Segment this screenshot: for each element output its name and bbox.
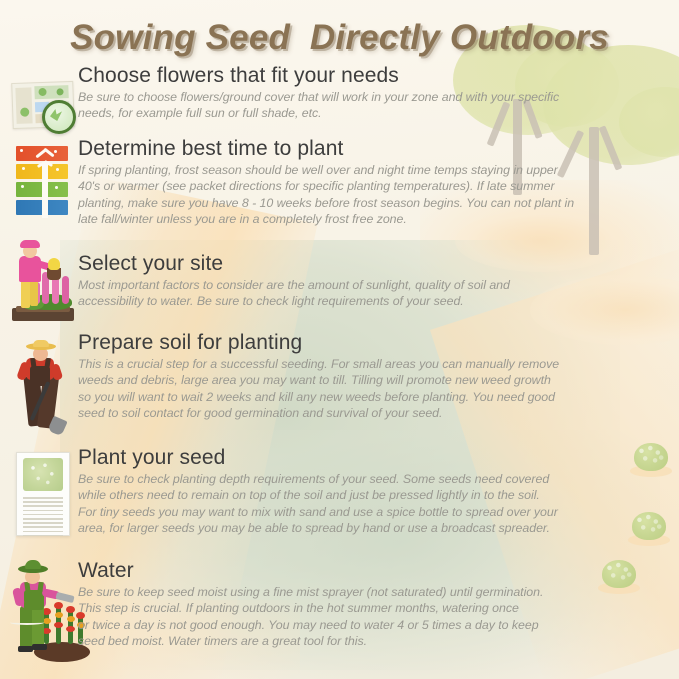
step-6-line-1: Be sure to keep seed moist using a fine … bbox=[78, 584, 672, 600]
step-2-line-4: late fall/winter unless you are in a com… bbox=[78, 211, 672, 227]
step-6: Water Be sure to keep seed moist using a… bbox=[78, 559, 672, 650]
step-5-line-3: For tiny seeds you may want to mix with … bbox=[78, 504, 672, 520]
step-5-line-4: area, for larger seeds you may be able t… bbox=[78, 520, 672, 536]
step-4-line-1: This is a crucial step for a successful … bbox=[78, 356, 672, 372]
step-5-heading: Plant your seed bbox=[78, 446, 672, 470]
step-4-body: This is a crucial step for a successful … bbox=[78, 356, 672, 422]
step-1-line-1: Be sure to choose flowers/ground cover t… bbox=[78, 89, 672, 105]
infographic-poster: Sowing Seed Directly Outdoors bbox=[0, 0, 679, 679]
step-6-body: Be sure to keep seed moist using a fine … bbox=[78, 584, 672, 650]
step-3-heading: Select your site bbox=[78, 252, 672, 276]
step-2-line-2: 40's or warmer (see packet directions fo… bbox=[78, 178, 672, 194]
step-5: Plant your seed Be sure to check plantin… bbox=[78, 446, 672, 537]
step-2-line-3: planting, make sure you have 8 - 10 week… bbox=[78, 195, 672, 211]
step-6-heading: Water bbox=[78, 559, 672, 583]
step-6-line-4: seed bed moist. Water timers are a great… bbox=[78, 633, 672, 649]
step-1-body: Be sure to choose flowers/ground cover t… bbox=[78, 89, 672, 122]
steps-list: Choose flowers that fit your needs Be su… bbox=[0, 0, 679, 679]
step-3-body: Most important factors to consider are t… bbox=[78, 277, 672, 310]
step-5-line-2: while others need to remain on top of th… bbox=[78, 487, 672, 503]
step-5-body: Be sure to check planting depth requirem… bbox=[78, 471, 672, 537]
step-6-line-2: This step is crucial. If planting outdoo… bbox=[78, 600, 672, 616]
step-2-line-1: If spring planting, frost season should … bbox=[78, 162, 672, 178]
step-4-line-2: weeds and debris, large area you may wan… bbox=[78, 372, 672, 388]
step-4-line-3: so you will want to wait 2 weeks and kil… bbox=[78, 389, 672, 405]
step-2-heading: Determine best time to plant bbox=[78, 137, 672, 161]
step-5-line-1: Be sure to check planting depth requirem… bbox=[78, 471, 672, 487]
step-3-line-1: Most important factors to consider are t… bbox=[78, 277, 672, 293]
step-4: Prepare soil for planting This is a cruc… bbox=[78, 331, 672, 422]
step-1-line-2: needs, for example full sun or full shad… bbox=[78, 105, 672, 121]
step-4-line-4: seed to soil contact for good germinatio… bbox=[78, 405, 672, 421]
step-3: Select your site Most important factors … bbox=[78, 252, 672, 310]
step-3-line-2: accessibility to water. Be sure to check… bbox=[78, 293, 672, 309]
step-1: Choose flowers that fit your needs Be su… bbox=[78, 64, 672, 122]
step-2-body: If spring planting, frost season should … bbox=[78, 162, 672, 228]
step-4-heading: Prepare soil for planting bbox=[78, 331, 672, 355]
step-1-heading: Choose flowers that fit your needs bbox=[78, 64, 672, 88]
step-2: Determine best time to plant If spring p… bbox=[78, 137, 672, 228]
step-6-line-3: or twice a day is not good enough. You m… bbox=[78, 617, 672, 633]
